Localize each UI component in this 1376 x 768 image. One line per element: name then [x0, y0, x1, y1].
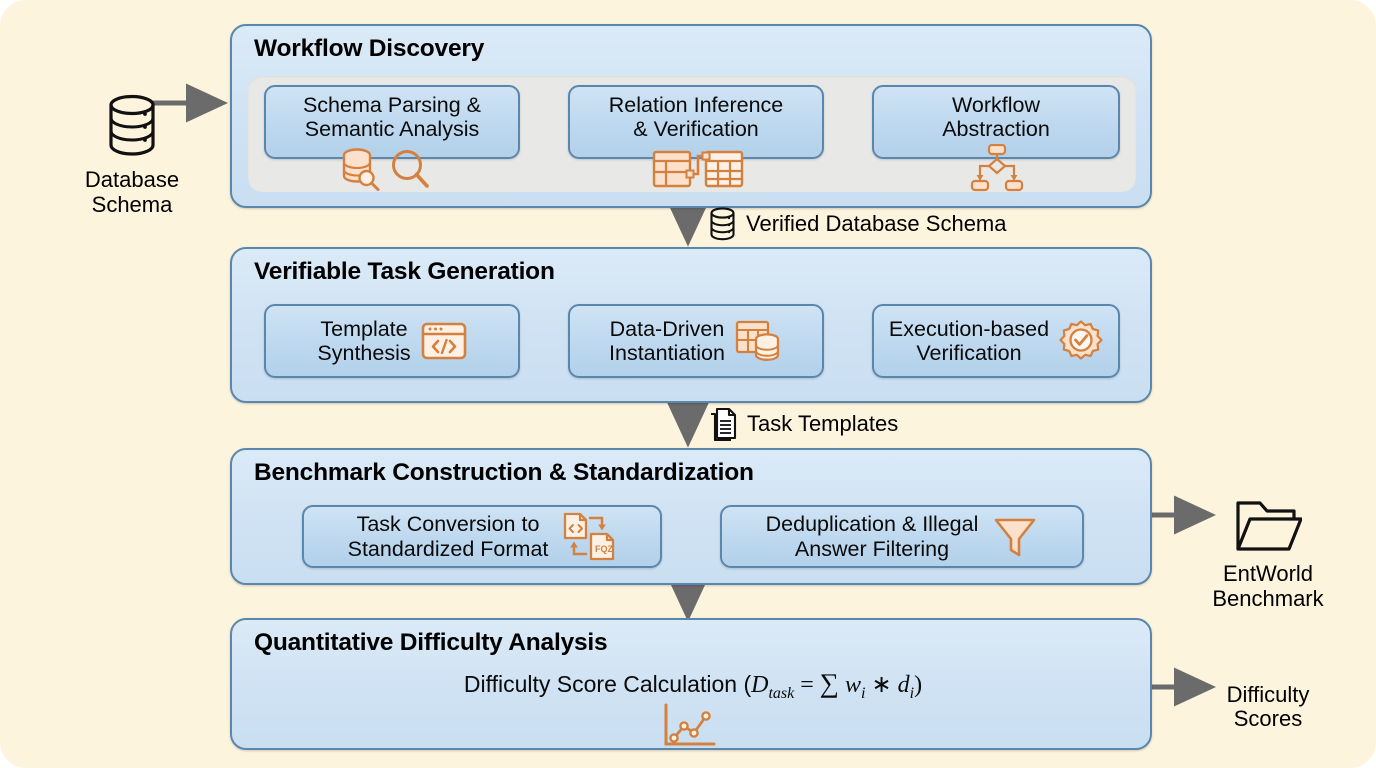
section-benchmark-construction: Benchmark Construction & Standardization… — [230, 448, 1152, 585]
section-verifiable-task-generation-title: Verifiable Task Generation — [254, 258, 555, 286]
input-database-schema: Database Schema — [62, 68, 202, 242]
formula-var: D — [751, 672, 768, 698]
step-template-synthesis-label: Template Synthesis — [317, 317, 410, 365]
database-icon — [708, 207, 737, 241]
step-workflow-abstraction[interactable]: Workflow Abstraction — [872, 85, 1120, 159]
output-entworld-benchmark-label: EntWorld Benchmark — [1180, 562, 1356, 611]
step-task-conversion[interactable]: Task Conversion to Standardized Format F… — [302, 505, 662, 568]
document-icon — [708, 407, 738, 441]
section-workflow-discovery-title: Workflow Discovery — [254, 35, 484, 63]
step-data-driven-instantiation-label: Data-Driven Instantiation — [609, 317, 725, 365]
section-benchmark-construction-title: Benchmark Construction & Standardization — [254, 459, 754, 487]
file-convert-icon: FQZ — [562, 512, 616, 562]
difficulty-formula: Dtask = ∑ wi ∗ di) — [751, 672, 922, 698]
step-workflow-abstraction-label: Workflow Abstraction — [942, 93, 1050, 141]
formula-diff: d — [898, 672, 910, 698]
section-quantitative-difficulty-analysis: Quantitative Difficulty Analysis Difficu… — [230, 618, 1152, 750]
step-template-synthesis[interactable]: Template Synthesis — [264, 304, 520, 378]
output-entworld-benchmark: EntWorld Benchmark — [1180, 472, 1356, 636]
step-schema-parsing[interactable]: Schema Parsing & Semantic Analysis — [264, 85, 520, 159]
funnel-icon — [992, 514, 1038, 560]
difficulty-score-calculation-text: Difficulty Score Calculation ( — [464, 671, 751, 697]
formula-weight: w — [845, 672, 861, 698]
step-deduplication-filtering-label: Deduplication & Illegal Answer Filtering — [766, 512, 979, 560]
output-difficulty-scores-label: Difficulty Scores — [1180, 683, 1356, 732]
step-data-driven-instantiation[interactable]: Data-Driven Instantiation — [568, 304, 824, 378]
formula-times: ∗ — [872, 672, 892, 698]
step-relation-inference-label: Relation Inference & Verification — [609, 93, 784, 141]
formula-sum: ∑ — [820, 668, 839, 698]
output-difficulty-scores: Difficulty Scores — [1180, 658, 1356, 757]
section-quantitative-difficulty-analysis-title: Quantitative Difficulty Analysis — [254, 629, 607, 657]
input-database-schema-label: Database Schema — [62, 168, 202, 217]
table-database-icon — [735, 319, 783, 363]
gear-check-icon — [1059, 319, 1103, 363]
section-workflow-discovery: Workflow Discovery Schema Parsing & Sema… — [230, 24, 1152, 208]
section-verifiable-task-generation: Verifiable Task Generation Template Synt… — [230, 247, 1152, 403]
database-icon — [104, 93, 160, 157]
step-relation-inference[interactable]: Relation Inference & Verification — [568, 85, 824, 159]
diagram-canvas: Database Schema Workflow Discovery Schem… — [0, 0, 1376, 768]
formula-equals: = — [800, 672, 814, 698]
line-chart-icon — [662, 702, 718, 748]
flow-label-verified-database-schema-text: Verified Database Schema — [746, 211, 1007, 237]
formula-var-sub: task — [768, 685, 794, 702]
svg-text:FQZ: FQZ — [595, 544, 613, 554]
step-execution-based-verification-label: Execution-based Verification — [889, 317, 1049, 365]
flow-label-task-templates-text: Task Templates — [747, 411, 898, 437]
step-deduplication-filtering[interactable]: Deduplication & Illegal Answer Filtering — [720, 505, 1084, 568]
code-window-icon — [421, 321, 467, 361]
flow-label-task-templates: Task Templates — [708, 407, 898, 441]
step-task-conversion-label: Task Conversion to Standardized Format — [348, 512, 549, 560]
formula-weight-sub: i — [861, 685, 865, 702]
folder-icon — [1234, 497, 1302, 555]
step-execution-based-verification[interactable]: Execution-based Verification — [872, 304, 1120, 378]
difficulty-score-calculation-row: Difficulty Score Calculation (Dtask = ∑ … — [232, 668, 1154, 703]
formula-close: ) — [914, 672, 922, 698]
step-schema-parsing-label: Schema Parsing & Semantic Analysis — [303, 93, 481, 141]
flow-label-verified-database-schema: Verified Database Schema — [708, 207, 1007, 241]
